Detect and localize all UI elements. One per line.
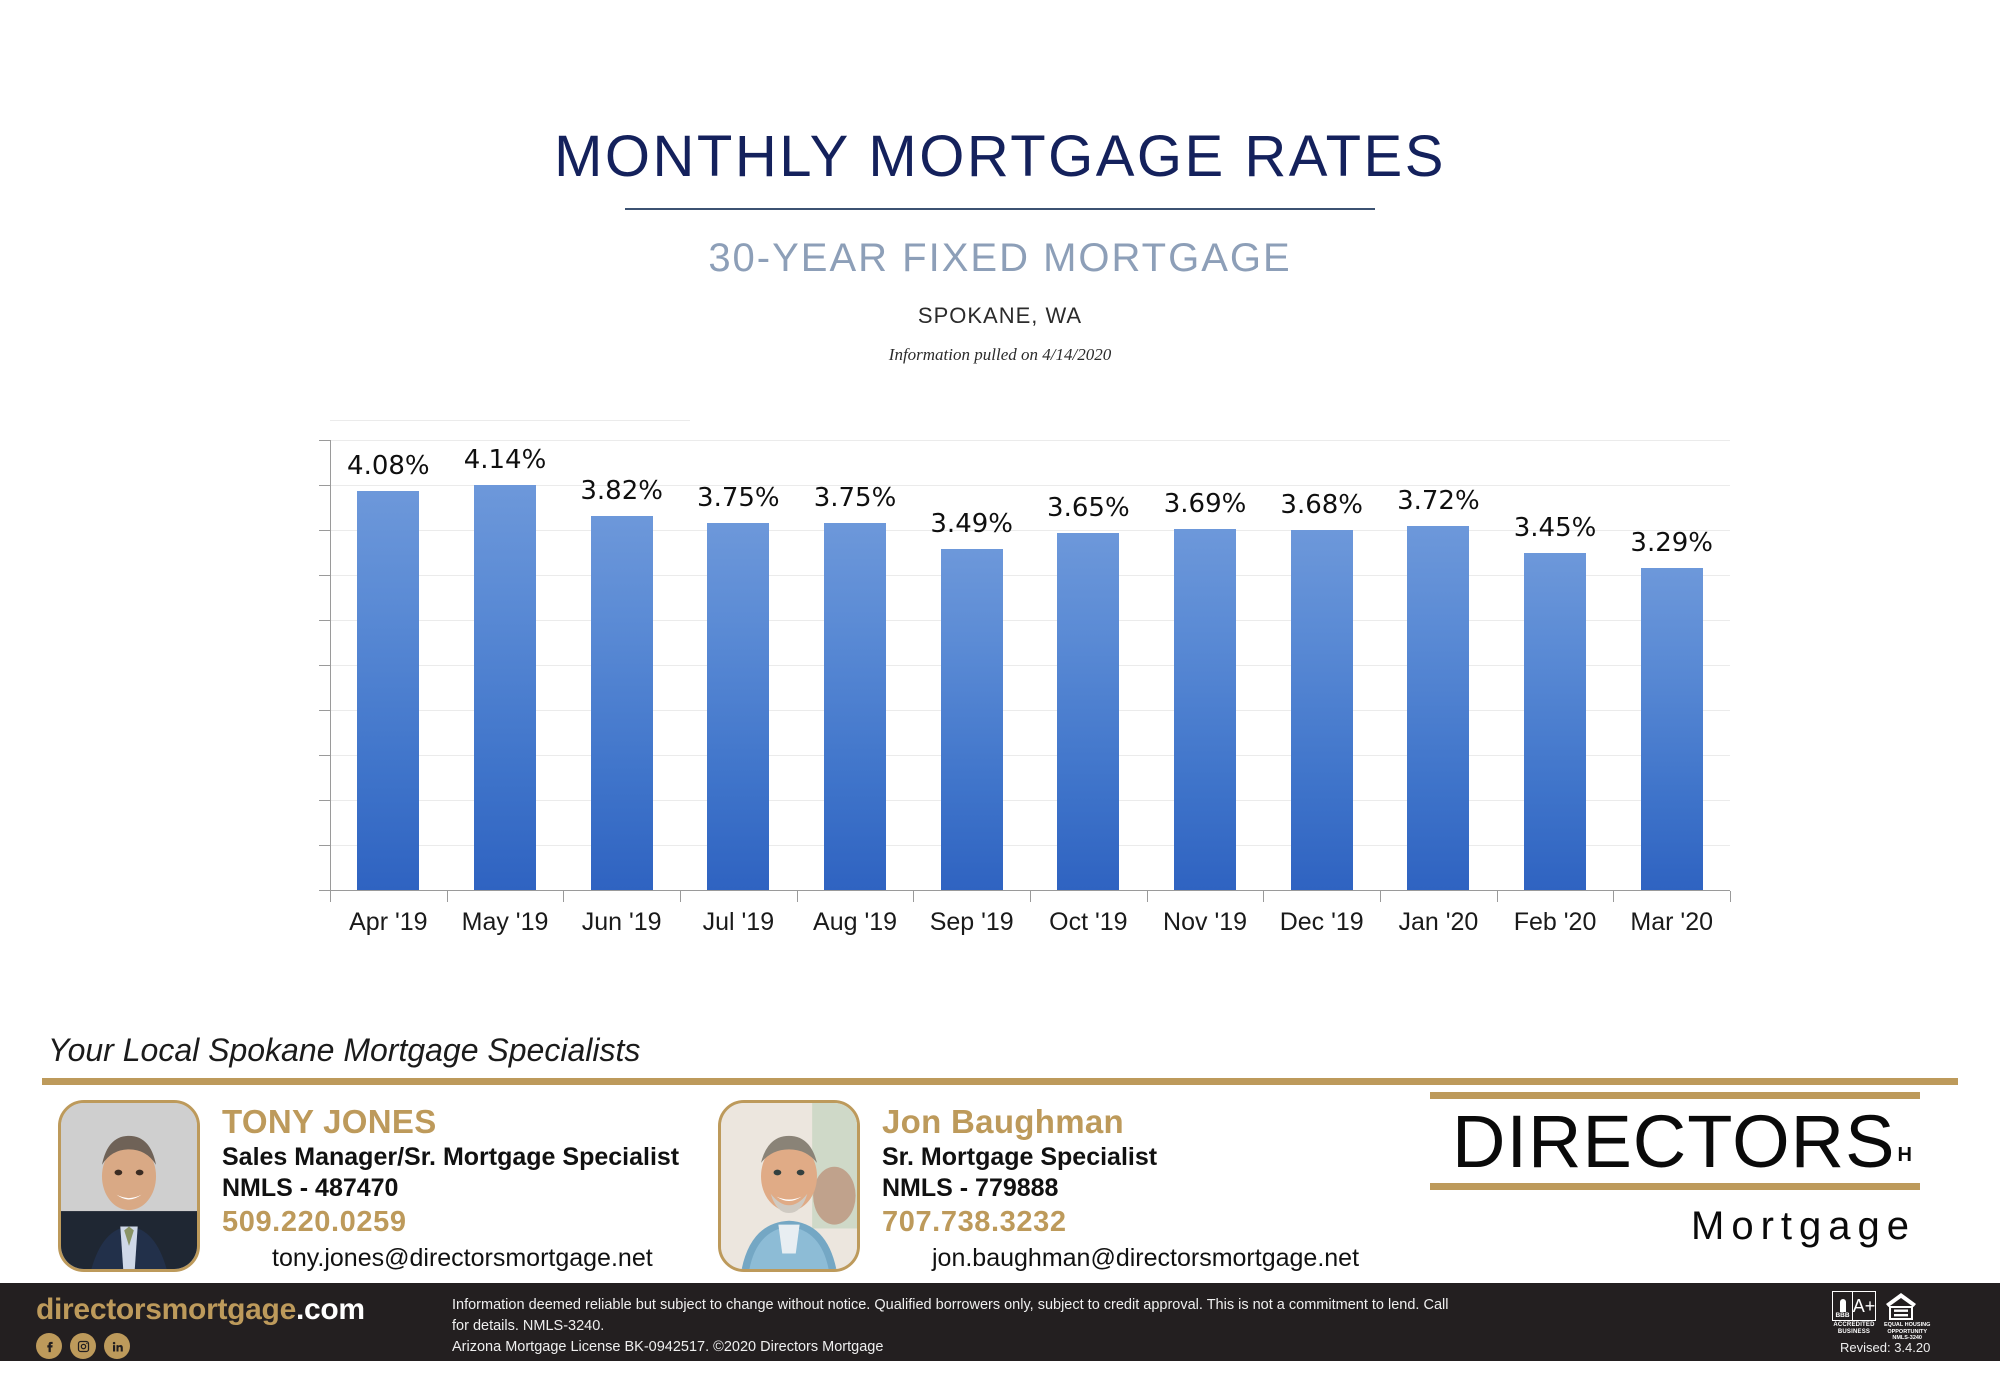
data-pulled-date: Information pulled on 4/14/2020	[0, 345, 2000, 365]
agent-email[interactable]: tony.jones@directorsmortgage.net	[272, 1244, 653, 1273]
chart-bar[interactable]	[1524, 553, 1586, 891]
chart-bar-value-label: 3.49%	[930, 509, 1013, 539]
agent-name: TONY JONES	[222, 1104, 679, 1140]
chart-bar-group: 3.29%	[1613, 440, 1730, 890]
x-axis-tick	[1497, 891, 1498, 902]
agent-name: Jon Baughman	[882, 1104, 1157, 1140]
chart-bar-value-label: 4.14%	[464, 445, 547, 475]
chart-plot-area: 4.08%4.14%3.82%3.75%3.75%3.49%3.65%3.69%…	[330, 440, 1730, 890]
agent-info: Jon Baughman Sr. Mortgage Specialist NML…	[882, 1100, 1157, 1239]
disclaimer-line-1: Information deemed reliable but subject …	[452, 1295, 1452, 1337]
x-axis-tick	[1380, 891, 1381, 902]
bbb-label: BBB	[1835, 1313, 1849, 1320]
x-axis-tick	[447, 891, 448, 902]
x-axis-label: Nov '19	[1147, 908, 1264, 937]
agent-photo	[58, 1100, 200, 1272]
linkedin-icon[interactable]	[104, 1333, 130, 1359]
bbb-rating: A+	[1853, 1292, 1875, 1320]
accreditation-badges: BBB A+ ACCREDITED BUSINESS EQUAL HOUSING	[1832, 1291, 1930, 1342]
agent-phone[interactable]: 707.738.3232	[882, 1206, 1157, 1239]
chart-bar[interactable]	[1641, 568, 1703, 890]
chart-bar[interactable]	[591, 516, 653, 890]
y-axis-tick	[319, 575, 330, 576]
y-axis-tick	[319, 710, 330, 711]
page-title: MONTHLY MORTGAGE RATES	[0, 128, 2000, 186]
x-axis-label: Apr '19	[330, 908, 447, 937]
x-axis-tick	[913, 891, 914, 902]
website-link[interactable]: directorsmortgage.com	[36, 1293, 365, 1327]
agent-info: TONY JONES Sales Manager/Sr. Mortgage Sp…	[222, 1100, 679, 1239]
chart-bar[interactable]	[824, 523, 886, 890]
chart-bar[interactable]	[474, 485, 536, 890]
bbb-caption-line-1: ACCREDITED	[1832, 1322, 1876, 1329]
chart-bar-value-label: 3.72%	[1397, 486, 1480, 516]
agent-nmls: NMLS - 779888	[882, 1173, 1157, 1204]
agent-phone[interactable]: 509.220.0259	[222, 1206, 679, 1239]
chart-bar-group: 3.75%	[680, 440, 797, 890]
mortgage-rates-bar-chart: 4.08%4.14%3.82%3.75%3.75%3.49%3.65%3.69%…	[330, 440, 1730, 940]
bbb-accredited-icon: BBB A+ ACCREDITED BUSINESS	[1832, 1291, 1876, 1336]
logo-word: DIRECTORS	[1452, 1103, 1895, 1181]
x-axis-label: Jun '19	[563, 908, 680, 937]
instagram-icon[interactable]	[70, 1333, 96, 1359]
chart-bar-group: 3.49%	[913, 440, 1030, 890]
chart-bar[interactable]	[1407, 526, 1469, 890]
y-axis-tick	[319, 800, 330, 801]
chart-bar[interactable]	[707, 523, 769, 890]
chart-bar-value-label: 3.82%	[580, 476, 663, 506]
chart-bar[interactable]	[1291, 530, 1353, 890]
logo-rule-bottom	[1430, 1183, 1920, 1190]
logo-rule-top	[1430, 1092, 1920, 1099]
chart-bar-value-label: 3.75%	[814, 483, 897, 513]
chart-bar-value-label: 3.65%	[1047, 493, 1130, 523]
x-axis-tick	[1147, 891, 1148, 902]
logo-superscript: H	[1897, 1144, 1911, 1166]
chart-bar-group: 3.82%	[563, 440, 680, 890]
chart-bar-value-label: 3.29%	[1630, 528, 1713, 558]
y-axis-tick	[319, 530, 330, 531]
y-axis-tick	[319, 620, 330, 621]
chart-bar-group: 3.75%	[797, 440, 914, 890]
x-axis-tick	[1263, 891, 1264, 902]
chart-bar-value-label: 3.45%	[1514, 513, 1597, 543]
title-divider	[625, 208, 1375, 210]
chart-bar-group: 3.72%	[1380, 440, 1497, 890]
chart-gridline	[330, 420, 690, 421]
facebook-icon[interactable]	[36, 1333, 62, 1359]
gold-divider	[42, 1078, 1958, 1085]
x-axis-tick	[1030, 891, 1031, 902]
equal-housing-opportunity-icon: EQUAL HOUSING OPPORTUNITY NMLS-3240	[1884, 1291, 1930, 1342]
agent-email[interactable]: jon.baughman@directorsmortgage.net	[932, 1244, 1359, 1273]
website-name: directorsmortgage	[36, 1293, 296, 1326]
x-axis-label: May '19	[447, 908, 564, 937]
bbb-caption-line-2: BUSINESS	[1832, 1329, 1876, 1336]
chart-bar[interactable]	[357, 491, 419, 890]
agent-title: Sales Manager/Sr. Mortgage Specialist	[222, 1142, 679, 1173]
x-axis-label: Jan '20	[1380, 908, 1497, 937]
x-axis-tick	[330, 891, 331, 902]
chart-bar-group: 3.69%	[1147, 440, 1264, 890]
location-label: SPOKANE, WA	[0, 303, 2000, 329]
x-axis-tick	[1730, 891, 1731, 902]
chart-bar-group: 3.68%	[1263, 440, 1380, 890]
header: MONTHLY MORTGAGE RATES 30-YEAR FIXED MOR…	[0, 0, 2000, 365]
chart-bar-value-label: 3.75%	[697, 483, 780, 513]
y-axis-tick	[319, 845, 330, 846]
y-axis-tick	[319, 665, 330, 666]
agent-photo	[718, 1100, 860, 1272]
chart-bar[interactable]	[941, 549, 1003, 890]
website-tld: .com	[296, 1293, 365, 1326]
x-axis-label: Mar '20	[1613, 908, 1730, 937]
legal-disclaimer: Information deemed reliable but subject …	[452, 1295, 1452, 1358]
x-axis-labels: Apr '19May '19Jun '19Jul '19Aug '19Sep '…	[330, 908, 1730, 937]
logo-wordmark: DIRECTORSH	[1430, 1099, 1920, 1183]
x-axis-tick	[1613, 891, 1614, 902]
chart-bars: 4.08%4.14%3.82%3.75%3.75%3.49%3.65%3.69%…	[330, 440, 1730, 890]
chart-bar-group: 3.65%	[1030, 440, 1147, 890]
x-axis-label: Sep '19	[913, 908, 1030, 937]
chart-bar-value-label: 3.69%	[1164, 489, 1247, 519]
directors-mortgage-logo: DIRECTORSH Mortgage	[1430, 1092, 1920, 1249]
chart-bar[interactable]	[1174, 529, 1236, 890]
x-axis-label: Aug '19	[797, 908, 914, 937]
page-subtitle: 30-YEAR FIXED MORTGAGE	[0, 236, 2000, 281]
social-links	[36, 1333, 130, 1359]
logo-subword: Mortgage	[1430, 1190, 1920, 1249]
agent-nmls: NMLS - 487470	[222, 1173, 679, 1204]
chart-bar[interactable]	[1057, 533, 1119, 890]
x-axis-label: Jul '19	[680, 908, 797, 937]
chart-bar-group: 4.08%	[330, 440, 447, 890]
agent-title: Sr. Mortgage Specialist	[882, 1142, 1157, 1173]
eho-caption-line-1: EQUAL HOUSING	[1884, 1322, 1930, 1329]
x-axis-tick	[797, 891, 798, 902]
y-axis-tick	[319, 755, 330, 756]
footer-bar: directorsmortgage.com Information deemed…	[0, 1283, 2000, 1361]
x-axis-label: Dec '19	[1263, 908, 1380, 937]
y-axis-tick	[319, 890, 330, 891]
specialists-heading: Your Local Spokane Mortgage Specialists	[48, 1032, 640, 1069]
chart-bar-group: 4.14%	[447, 440, 564, 890]
x-axis-label: Oct '19	[1030, 908, 1147, 937]
chart-bar-value-label: 4.08%	[347, 451, 430, 481]
x-axis-label: Feb '20	[1497, 908, 1614, 937]
chart-bar-group: 3.45%	[1497, 440, 1614, 890]
revised-date: Revised: 3.4.20	[1840, 1340, 1930, 1355]
chart-bar-value-label: 3.68%	[1280, 490, 1363, 520]
x-axis-tick	[563, 891, 564, 902]
disclaimer-line-2: Arizona Mortgage License BK-0942517. ©20…	[452, 1337, 1452, 1358]
eho-caption-line-2: OPPORTUNITY	[1884, 1329, 1930, 1336]
x-axis-tick	[680, 891, 681, 902]
y-axis-tick	[319, 485, 330, 486]
y-axis-tick	[319, 440, 330, 441]
